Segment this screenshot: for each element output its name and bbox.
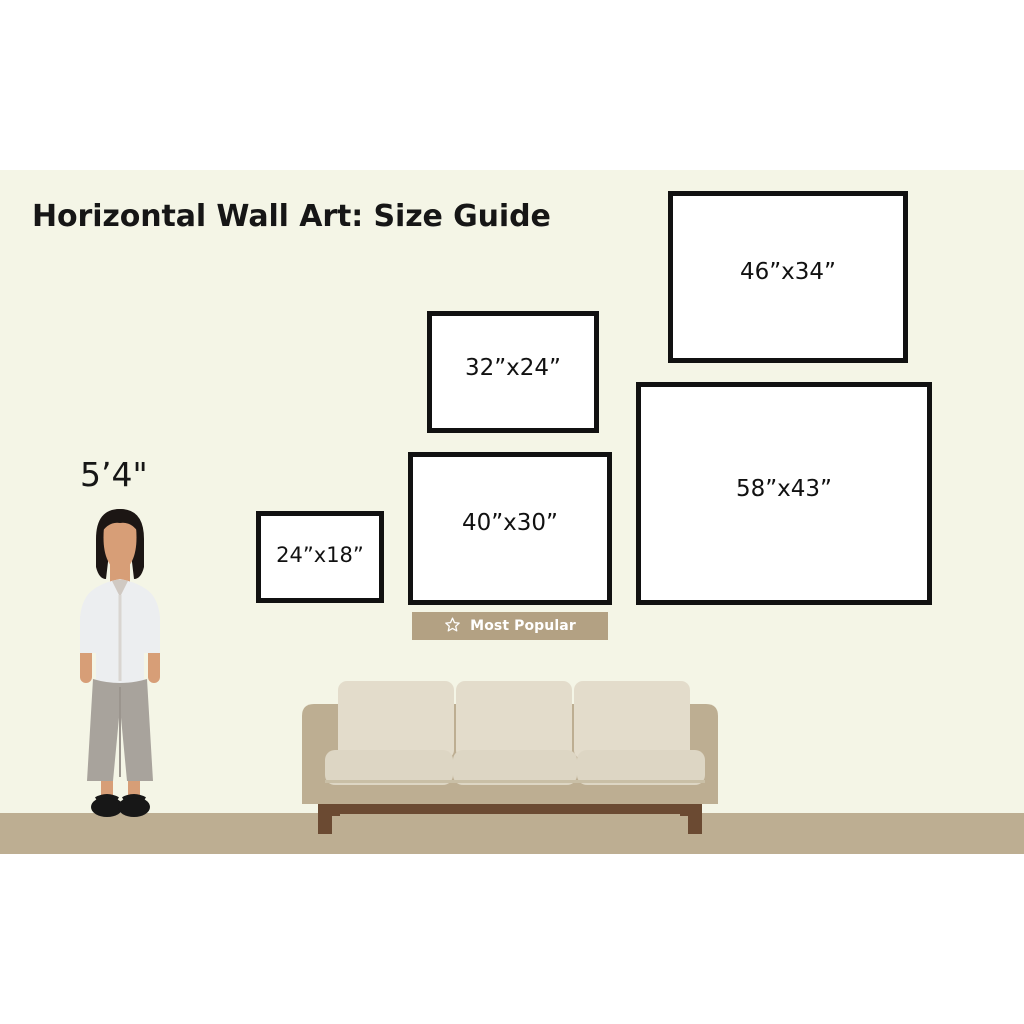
art-frame-32x24[interactable]: 32”x24”: [427, 311, 599, 433]
art-frame-label: 32”x24”: [465, 357, 561, 380]
art-frame-46x34[interactable]: 46”x34”: [668, 191, 908, 363]
sofa-seat-cushion: [325, 750, 453, 785]
sofa-seat-cushion: [453, 750, 577, 785]
most-popular-badge[interactable]: Most Popular: [412, 612, 608, 640]
size-guide-illustration: Horizontal Wall Art: Size Guide 5’4": [0, 0, 1024, 1024]
star-outline-icon: [444, 616, 461, 637]
human-scale-figure: [60, 505, 180, 823]
sofa-right-leg: [680, 804, 702, 834]
art-frame-58x43[interactable]: 58”x43”: [636, 382, 932, 605]
art-frame-label: 58”x43”: [736, 478, 832, 501]
art-frame-label: 40”x30”: [462, 512, 558, 535]
figure-face: [104, 522, 137, 571]
sofa-seat-shadow: [325, 780, 705, 783]
sofa-seat-cushion: [577, 750, 705, 785]
sofa-back-cushion: [574, 681, 690, 759]
art-frame-label: 46”x34”: [740, 261, 836, 284]
person-height-label: 5’4": [80, 455, 148, 494]
most-popular-label: Most Popular: [470, 618, 576, 634]
sofa-back-cushion: [338, 681, 454, 759]
sofa-back-cushion: [456, 681, 572, 759]
sofa-base-rail: [318, 804, 702, 814]
art-frame-label: 24”x18”: [276, 545, 364, 566]
page-title: Horizontal Wall Art: Size Guide: [32, 199, 551, 234]
art-frame-24x18[interactable]: 24”x18”: [256, 511, 384, 603]
figure-right-shoe: [118, 797, 150, 817]
sofa-left-leg: [318, 804, 340, 834]
sofa-illustration: [280, 660, 740, 838]
art-frame-40x30[interactable]: 40”x30”: [408, 452, 612, 605]
figure-placket: [119, 595, 122, 681]
